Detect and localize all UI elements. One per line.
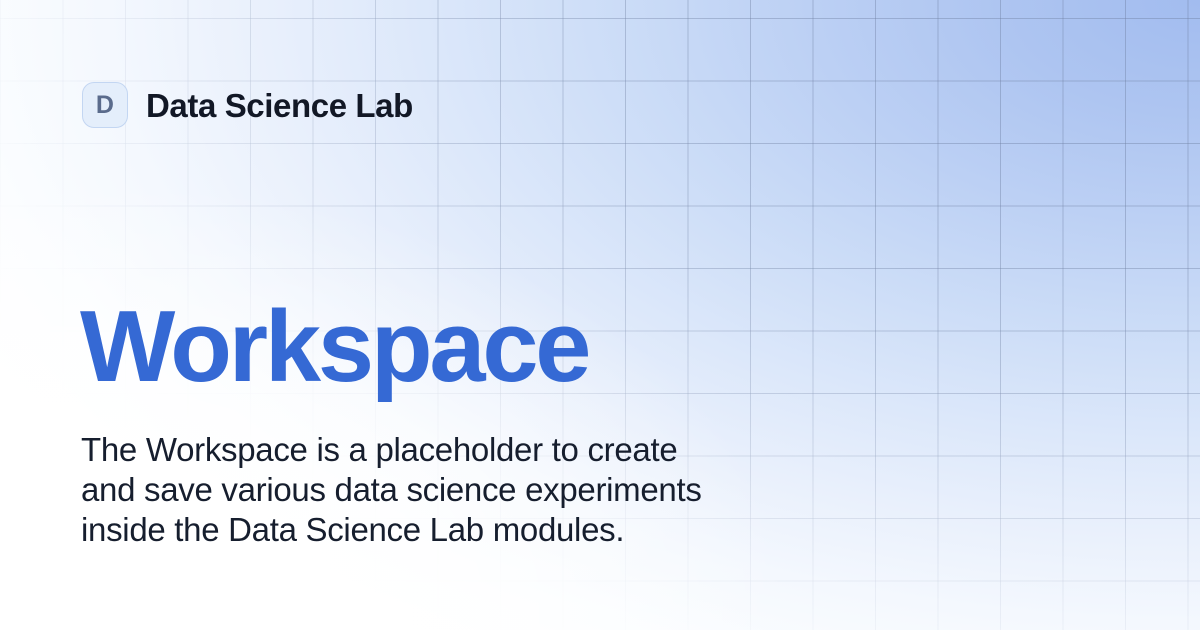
description-line: inside the Data Science Lab modules. — [81, 510, 871, 550]
og-banner-card: D Data Science Lab Workspace The Workspa… — [0, 0, 1200, 630]
description-line: The Workspace is a placeholder to create — [81, 430, 871, 470]
page-description: The Workspace is a placeholder to create… — [81, 430, 871, 550]
brand-lockup: D Data Science Lab — [82, 82, 413, 128]
brand-name-label: Data Science Lab — [146, 89, 413, 122]
page-title: Workspace — [80, 297, 588, 398]
description-line: and save various data science experiment… — [81, 470, 871, 510]
brand-logo-badge-icon: D — [82, 82, 128, 128]
banner-content: D Data Science Lab Workspace The Workspa… — [0, 0, 1200, 630]
